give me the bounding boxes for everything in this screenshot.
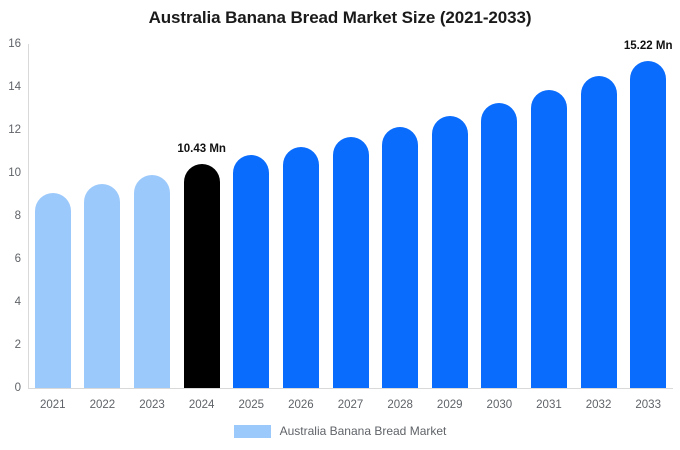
- bar-chart: Australia Banana Bread Market Size (2021…: [0, 0, 680, 450]
- bars-group: [28, 44, 673, 388]
- bar-2025[interactable]: [233, 155, 269, 388]
- x-axis-tick-label-2032: 2032: [581, 399, 617, 411]
- legend-swatch-australia-banana-bread-market: [234, 425, 271, 438]
- bar-2022[interactable]: [84, 184, 120, 388]
- bar-2033[interactable]: [630, 61, 666, 388]
- x-axis-tick-label-2031: 2031: [531, 399, 567, 411]
- x-axis-tick-label-2022: 2022: [84, 399, 120, 411]
- x-axis-tick-label-2028: 2028: [382, 399, 418, 411]
- bar-2021[interactable]: [35, 193, 71, 388]
- x-axis-tick-label-2026: 2026: [283, 399, 319, 411]
- bar-2023[interactable]: [134, 175, 170, 388]
- x-axis-tick-label-2025: 2025: [233, 399, 269, 411]
- y-axis-tick-label: 0: [0, 382, 21, 394]
- bar-2027[interactable]: [333, 137, 369, 388]
- y-axis-tick-label: 4: [0, 296, 21, 308]
- bar-2026[interactable]: [283, 147, 319, 388]
- x-axis-tick-label-2033: 2033: [630, 399, 666, 411]
- y-axis-tick-label: 2: [0, 339, 21, 351]
- y-axis-tick-label: 16: [0, 38, 21, 50]
- bar-2024[interactable]: [184, 164, 220, 388]
- x-axis-tick-label-2029: 2029: [432, 399, 468, 411]
- bar-2031[interactable]: [531, 90, 567, 388]
- legend-label-australia-banana-bread-market: Australia Banana Bread Market: [280, 424, 447, 438]
- y-axis-tick-label: 10: [0, 167, 21, 179]
- data-label-2033: 15.22 Mn: [593, 40, 680, 52]
- data-label-2024: 10.43 Mn: [147, 143, 257, 155]
- bar-2028[interactable]: [382, 127, 418, 388]
- x-axis-tick-label-2021: 2021: [35, 399, 71, 411]
- bar-2030[interactable]: [481, 103, 517, 388]
- bar-2032[interactable]: [581, 76, 617, 388]
- chart-title: Australia Banana Bread Market Size (2021…: [0, 8, 680, 28]
- chart-legend: Australia Banana Bread Market: [0, 424, 680, 438]
- x-axis-tick-label-2024: 2024: [184, 399, 220, 411]
- y-axis-tick-label: 8: [0, 210, 21, 222]
- y-axis-tick-label: 12: [0, 124, 21, 136]
- x-axis-tick-label-2030: 2030: [481, 399, 517, 411]
- y-axis-tick-label: 6: [0, 253, 21, 265]
- x-axis-line: [28, 388, 673, 389]
- plot-area: 0246810121416 20212022202320242025202620…: [28, 44, 673, 388]
- y-axis-tick-label: 14: [0, 81, 21, 93]
- x-axis-tick-label-2027: 2027: [333, 399, 369, 411]
- x-axis-tick-label-2023: 2023: [134, 399, 170, 411]
- bar-2029[interactable]: [432, 116, 468, 388]
